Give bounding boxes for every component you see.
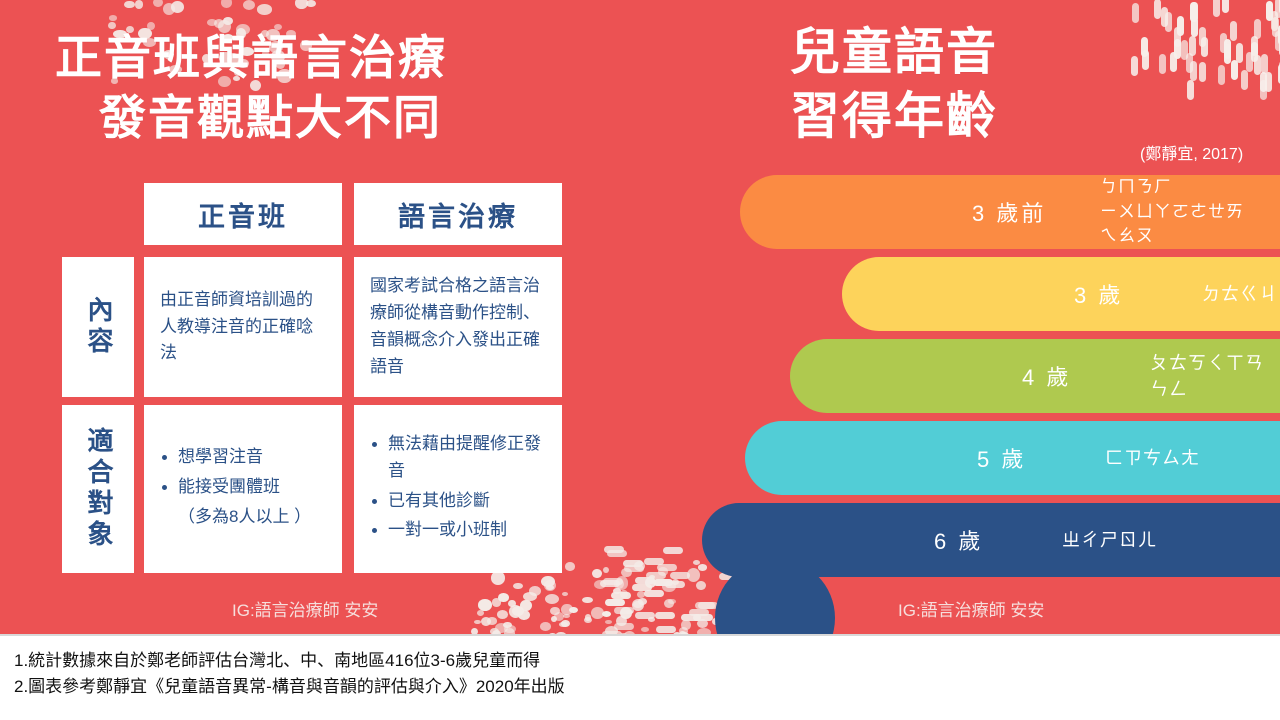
decorative-dot bbox=[592, 569, 602, 579]
decorative-dash bbox=[695, 602, 715, 609]
pyramid-age-label: 3 歲 bbox=[1074, 278, 1123, 310]
decorative-dot bbox=[645, 577, 656, 588]
decorative-dash bbox=[1266, 1, 1273, 21]
decorative-dash bbox=[600, 580, 620, 587]
decorative-dash bbox=[624, 565, 644, 572]
decorative-dot bbox=[214, 19, 224, 28]
decorative-dot bbox=[605, 626, 619, 634]
decorative-dot bbox=[124, 1, 135, 9]
decorative-dash bbox=[1254, 55, 1261, 75]
decorative-dot bbox=[523, 592, 537, 601]
table-row-label-content: 內容 bbox=[62, 257, 134, 397]
left-title-line-2: 發音觀點大不同 bbox=[55, 88, 615, 148]
decorative-dash bbox=[1222, 0, 1229, 13]
decorative-dot bbox=[491, 571, 505, 584]
decorative-dot bbox=[584, 617, 592, 624]
table-row-label-target: 適合對象 bbox=[62, 405, 134, 573]
decorative-dash bbox=[1224, 44, 1231, 64]
decorative-dot bbox=[529, 586, 540, 596]
table-cell-text: 國家考試合格之語言治療師從構音動作控制、音韻概念介入發出正確語音 bbox=[370, 273, 546, 380]
decorative-dot bbox=[503, 622, 512, 628]
pyramid-sounds-label: ㄆㄊㄎㄑㄒㄢㄣㄥ bbox=[1150, 350, 1280, 402]
footnote-line-2: 2.圖表參考鄭靜宜《兒童語音異常-構音與音韻的評估與介入》2020年出版 bbox=[14, 674, 565, 700]
decorative-dot bbox=[637, 591, 645, 598]
decorative-dot bbox=[634, 561, 645, 571]
list-item: 能接受團體班 bbox=[160, 474, 311, 501]
decorative-dot bbox=[171, 1, 184, 13]
decorative-dash bbox=[681, 614, 701, 621]
decorative-dash bbox=[1236, 43, 1243, 63]
decorative-dash bbox=[1230, 21, 1237, 41]
decorative-dot bbox=[613, 588, 621, 594]
decorative-dash bbox=[1190, 2, 1197, 22]
decorative-dash bbox=[1174, 39, 1181, 59]
decorative-dash bbox=[1161, 7, 1168, 27]
decorative-dash bbox=[1132, 3, 1139, 23]
decorative-dash bbox=[1201, 37, 1208, 57]
footnotes: 1.統計數據來自於鄭老師評估台灣北、中、南地區416位3-6歲兒童而得 2.圖表… bbox=[14, 648, 565, 699]
decorative-dash bbox=[1141, 37, 1148, 57]
decorative-dot bbox=[135, 0, 143, 8]
table-cell-content-zhengyinban: 由正音師資培訓過的人教導注音的正確唸法 bbox=[144, 257, 342, 397]
decorative-dash bbox=[1177, 16, 1184, 36]
decorative-dot bbox=[565, 562, 575, 570]
list-item: 無法藉由提醒修正發音 bbox=[370, 431, 546, 485]
decorative-dot bbox=[562, 592, 568, 597]
decorative-dot bbox=[672, 579, 679, 585]
decorative-dot bbox=[546, 585, 554, 591]
decorative-dot bbox=[681, 620, 690, 630]
decorative-dot bbox=[497, 610, 509, 619]
pyramid-row: 4 歲ㄆㄊㄎㄑㄒㄢㄣㄥ bbox=[790, 339, 1280, 413]
decorative-dot bbox=[295, 0, 308, 9]
decorative-dash bbox=[1224, 39, 1231, 59]
decorative-dash bbox=[644, 558, 664, 565]
table-header-speech-therapy: 語言治療 bbox=[354, 183, 562, 245]
decorative-dash bbox=[1191, 17, 1198, 37]
decorative-dot bbox=[658, 567, 669, 576]
decorative-dash bbox=[1131, 56, 1138, 76]
decorative-dash bbox=[1260, 72, 1267, 92]
decorative-dash bbox=[1213, 0, 1220, 17]
decorative-dot bbox=[504, 625, 515, 633]
decorative-dash bbox=[657, 564, 677, 571]
decorative-dash bbox=[1251, 36, 1258, 56]
red-background-panel: 正音班與語言治療 發音觀點大不同 兒童語音 習得年齡 (鄭靜宜, 2017) 正… bbox=[0, 0, 1280, 634]
decorative-dot bbox=[561, 604, 573, 616]
right-title-line-1: 兒童語音 bbox=[790, 20, 1120, 84]
decorative-dot bbox=[591, 607, 604, 619]
pyramid-sounds-label: ㄓㄔㄕㄖㄦ bbox=[1062, 527, 1157, 553]
decorative-dash bbox=[603, 578, 623, 585]
decorative-dot bbox=[544, 580, 556, 591]
left-title-line-1: 正音班與語言治療 bbox=[55, 28, 615, 88]
bullet-list: 想學習注音能接受團體班（多為8人以上 ） bbox=[160, 444, 311, 534]
pyramid-row: 5 歲ㄈㄗㄘㄙㄤ bbox=[745, 421, 1280, 495]
decorative-dash bbox=[693, 614, 713, 621]
list-item: 一對一或小班制 bbox=[370, 517, 546, 544]
decorative-dash bbox=[1191, 2, 1198, 22]
decorative-dash bbox=[1275, 0, 1280, 18]
decorative-dot bbox=[512, 606, 524, 616]
decorative-dot bbox=[594, 580, 606, 589]
decorative-dash bbox=[1261, 54, 1268, 74]
decorative-dot bbox=[626, 610, 633, 615]
decorative-dash bbox=[1218, 65, 1225, 85]
decorative-dash bbox=[1189, 36, 1196, 56]
decorative-dot bbox=[540, 622, 552, 631]
decorative-dot bbox=[620, 590, 628, 598]
decorative-dot bbox=[616, 576, 629, 589]
decorative-dot bbox=[551, 616, 557, 622]
decorative-dash bbox=[1275, 31, 1280, 51]
decorative-dot bbox=[559, 622, 567, 628]
table-cell-text: 由正音師資培訓過的人教導注音的正確唸法 bbox=[160, 287, 326, 368]
decorative-dash bbox=[635, 612, 655, 619]
decorative-dash bbox=[663, 547, 683, 554]
decorative-dash bbox=[1254, 19, 1261, 39]
comparison-table: 正音班 語言治療 內容 適合對象 由正音師資培訓過的人教導注音的正確唸法 國家考… bbox=[62, 183, 562, 573]
decorative-dot bbox=[603, 567, 609, 573]
decorative-dash bbox=[1142, 50, 1149, 70]
footnote-divider bbox=[0, 634, 1280, 636]
decorative-dash bbox=[1186, 53, 1193, 73]
decorative-dot bbox=[561, 620, 570, 627]
decorative-dash bbox=[1231, 60, 1238, 80]
decorative-dot bbox=[495, 623, 508, 633]
decorative-dot bbox=[243, 0, 255, 10]
decorative-dash bbox=[1246, 52, 1253, 72]
pyramid-row: 3 歲前ㄅㄇㄋㄏ ㄧㄨㄩㄚㄛㄜㄝㄞ ㄟㄠㄡ bbox=[740, 175, 1280, 249]
decorative-dot bbox=[474, 620, 481, 624]
decorative-dot bbox=[668, 599, 676, 604]
decorative-dot bbox=[638, 598, 648, 605]
pyramid-age-label: 6 歲 bbox=[934, 524, 983, 556]
decorative-dash bbox=[1154, 0, 1161, 19]
table-cell-content-therapy: 國家考試合格之語言治療師從構音動作控制、音韻概念介入發出正確語音 bbox=[354, 257, 562, 397]
decorative-dash bbox=[607, 550, 627, 557]
decorative-dash bbox=[656, 626, 676, 633]
decorative-dot bbox=[498, 593, 509, 602]
bullet-list: 無法藉由提醒修正發音已有其他診斷一對一或小班制 bbox=[370, 431, 546, 547]
list-item-continuation: （多為8人以上 ） bbox=[160, 504, 311, 531]
pyramid-age-label: 4 歲 bbox=[1022, 360, 1071, 392]
decorative-dot bbox=[550, 607, 560, 615]
decorative-dash bbox=[1199, 27, 1206, 47]
decorative-dash bbox=[646, 572, 666, 579]
decorative-dot bbox=[648, 617, 655, 622]
decorative-dot bbox=[616, 616, 626, 627]
decorative-dash bbox=[632, 584, 652, 591]
decorative-dot bbox=[481, 617, 491, 626]
decorative-dash bbox=[644, 590, 664, 597]
decorative-dash bbox=[1170, 52, 1177, 72]
poster-root: 正音班與語言治療 發音觀點大不同 兒童語音 習得年齡 (鄭靜宜, 2017) 正… bbox=[0, 0, 1280, 720]
decorative-dash bbox=[1220, 33, 1227, 53]
decorative-dot bbox=[687, 568, 700, 582]
pyramid-sounds-label: ㄅㄇㄋㄏ ㄧㄨㄩㄚㄛㄜㄝㄞ ㄟㄠㄡ bbox=[1100, 175, 1244, 249]
decorative-dash bbox=[655, 612, 675, 619]
footnote-line-1: 1.統計數據來自於鄭老師評估台灣北、中、南地區416位3-6歲兒童而得 bbox=[14, 648, 565, 674]
decorative-dash bbox=[653, 579, 673, 586]
right-title-line-2: 習得年齡 bbox=[790, 84, 1120, 148]
decorative-dot bbox=[508, 600, 516, 607]
decorative-dash bbox=[611, 592, 631, 599]
decorative-dot bbox=[492, 598, 501, 606]
decorative-dot bbox=[477, 610, 484, 616]
decorative-dash bbox=[1272, 17, 1279, 37]
decorative-dot bbox=[569, 607, 578, 613]
decorative-dot bbox=[554, 612, 564, 621]
decorative-dot bbox=[513, 583, 523, 590]
list-item: 已有其他診斷 bbox=[370, 488, 546, 515]
decorative-dot bbox=[602, 611, 612, 617]
ig-credit-left: IG:語言治療師 安安 bbox=[232, 596, 378, 621]
decorative-dash bbox=[604, 546, 624, 553]
decorative-dot bbox=[163, 3, 175, 15]
decorative-dot bbox=[621, 568, 632, 577]
decorative-dash bbox=[605, 599, 625, 606]
decorative-dash bbox=[670, 572, 690, 579]
pyramid-age-label: 5 歲 bbox=[977, 442, 1026, 474]
citation-label: (鄭靜宜, 2017) bbox=[1140, 140, 1243, 164]
decorative-dot bbox=[614, 579, 624, 589]
pyramid-sounds-label: ㄈㄗㄘㄙㄤ bbox=[1105, 445, 1200, 471]
decorative-dash bbox=[1190, 61, 1197, 81]
decorative-dot bbox=[518, 610, 530, 621]
decorative-dash bbox=[1181, 40, 1188, 60]
table-cell-target-zhengyinban: 想學習注音能接受團體班（多為8人以上 ） bbox=[144, 405, 342, 573]
decorative-dash bbox=[689, 609, 709, 616]
pyramid-row: 6 歲ㄓㄔㄕㄖㄦ bbox=[702, 503, 1280, 577]
decorative-dot bbox=[223, 17, 234, 26]
pyramid-age-label: 3 歲前 bbox=[972, 196, 1046, 228]
list-item: 想學習注音 bbox=[160, 444, 311, 471]
decorative-dot bbox=[109, 15, 118, 21]
ig-credit-right: IG:語言治療師 安安 bbox=[898, 596, 1044, 621]
decorative-dot bbox=[509, 605, 522, 618]
decorative-dot bbox=[649, 575, 655, 579]
decorative-dot bbox=[696, 581, 706, 590]
decorative-dot bbox=[520, 600, 531, 611]
decorative-dot bbox=[478, 599, 492, 611]
decorative-dot bbox=[664, 599, 674, 608]
decorative-dot bbox=[697, 619, 708, 629]
decorative-dot bbox=[633, 601, 643, 609]
decorative-dot bbox=[605, 620, 612, 624]
decorative-dash bbox=[614, 623, 634, 630]
decorative-dash bbox=[1187, 80, 1194, 100]
decorative-dash bbox=[1241, 70, 1248, 90]
decorative-dash bbox=[614, 607, 634, 614]
decorative-dash bbox=[1271, 11, 1278, 31]
decorative-dot bbox=[257, 4, 272, 14]
decorative-dash bbox=[635, 577, 655, 584]
pyramid-row: 3 歲ㄉㄊㄍㄐ bbox=[842, 257, 1280, 331]
decorative-dash bbox=[1174, 27, 1181, 47]
decorative-dot bbox=[585, 614, 592, 621]
table-header-zhengyinban: 正音班 bbox=[144, 183, 342, 245]
decorative-dot bbox=[207, 19, 217, 26]
decorative-dot bbox=[221, 0, 232, 8]
decorative-dot bbox=[487, 617, 497, 624]
decorative-dot bbox=[153, 0, 163, 7]
decorative-dot bbox=[545, 594, 559, 604]
decorative-dot bbox=[563, 614, 570, 618]
left-title: 正音班與語言治療 發音觀點大不同 bbox=[55, 28, 615, 148]
decorative-dot bbox=[662, 581, 676, 592]
age-acquisition-pyramid: 3 歲前ㄅㄇㄋㄏ ㄧㄨㄩㄚㄛㄜㄝㄞ ㄟㄠㄡ3 歲ㄉㄊㄍㄐ4 歲ㄆㄊㄎㄑㄒㄢㄣㄥ5… bbox=[700, 175, 1280, 575]
decorative-dash bbox=[665, 581, 685, 588]
decorative-dash bbox=[1199, 62, 1206, 82]
decorative-dash bbox=[1260, 80, 1267, 100]
right-title: 兒童語音 習得年齡 bbox=[790, 20, 1120, 148]
decorative-dot bbox=[582, 597, 593, 604]
decorative-dot bbox=[679, 627, 688, 634]
table-cell-target-therapy: 無法藉由提醒修正發音已有其他診斷一對一或小班制 bbox=[354, 405, 562, 573]
decorative-dot bbox=[541, 576, 555, 587]
decorative-dash bbox=[1265, 72, 1272, 92]
decorative-dash bbox=[1159, 54, 1166, 74]
decorative-dot bbox=[641, 627, 649, 632]
decorative-dot bbox=[620, 607, 632, 619]
decorative-dash bbox=[623, 560, 643, 567]
pyramid-sounds-label: ㄉㄊㄍㄐ bbox=[1202, 281, 1278, 307]
decorative-dash bbox=[1251, 42, 1258, 62]
decorative-dot bbox=[632, 599, 644, 611]
decorative-dash bbox=[1165, 12, 1172, 32]
decorative-dot bbox=[306, 0, 316, 7]
